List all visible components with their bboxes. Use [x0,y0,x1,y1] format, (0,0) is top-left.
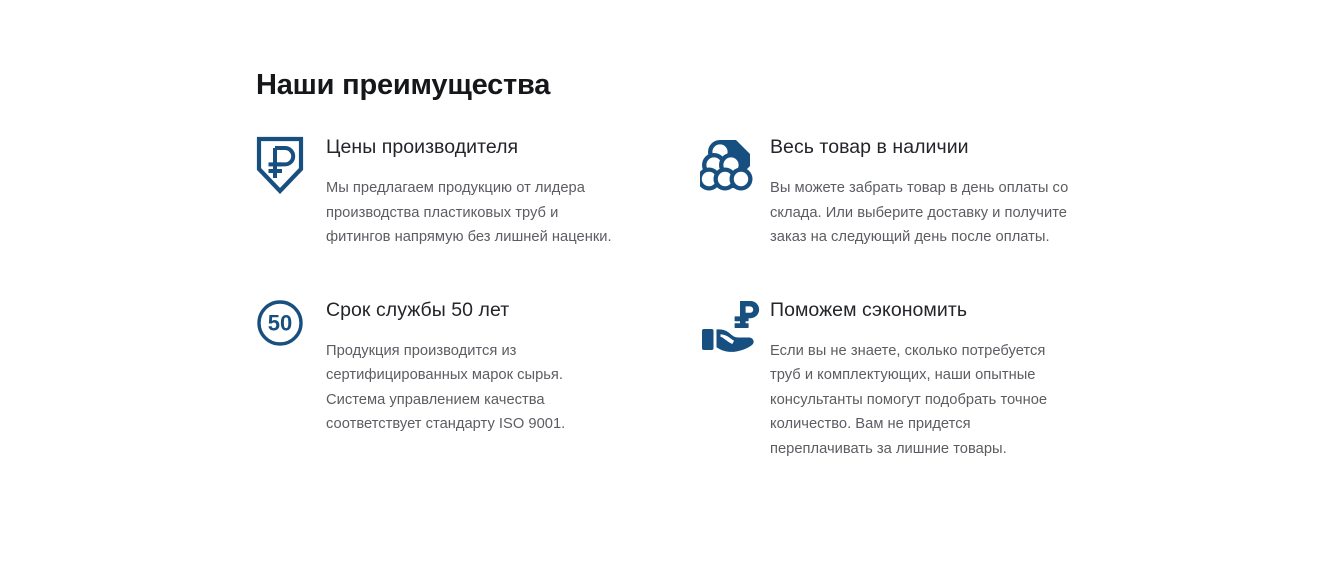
feature-card-service-life: 50 Срок службы 50 лет Продукция производ… [256,297,700,462]
feature-description: Если вы не знаете, сколько потребуется т… [770,339,1070,462]
feature-body: Цены производителя Мы предлагаем продукц… [326,134,700,250]
feature-title: Весь товар в наличии [770,134,1144,160]
feature-description: Вы можете забрать товар в день оплаты со… [770,176,1070,250]
advantages-section: Наши преимущества Цены производителя Мы … [0,0,1340,563]
feature-card-savings: Поможем сэкономить Если вы не знаете, ск… [700,297,1144,462]
shield-ruble-icon [256,134,326,196]
feature-card-in-stock: Весь товар в наличии Вы можете забрать т… [700,134,1144,250]
feature-card-prices: Цены производителя Мы предлагаем продукц… [256,134,700,250]
feature-title: Поможем сэкономить [770,297,1144,323]
feature-body: Весь товар в наличии Вы можете забрать т… [770,134,1144,250]
feature-body: Поможем сэкономить Если вы не знаете, ск… [770,297,1144,462]
feature-title: Цены производителя [326,134,700,160]
page-title: Наши преимущества [256,66,550,104]
features-grid: Цены производителя Мы предлагаем продукц… [256,134,1276,461]
feature-body: Срок службы 50 лет Продукция производитс… [326,297,700,437]
pipe-stack-icon [700,134,770,196]
feature-description: Мы предлагаем продукцию от лидера произв… [326,176,614,250]
hand-ruble-icon [700,297,770,359]
badge-value: 50 [268,310,292,335]
feature-title: Срок службы 50 лет [326,297,700,323]
fifty-years-badge-icon: 50 [256,297,326,359]
feature-description: Продукция производится из сертифицирован… [326,339,614,437]
